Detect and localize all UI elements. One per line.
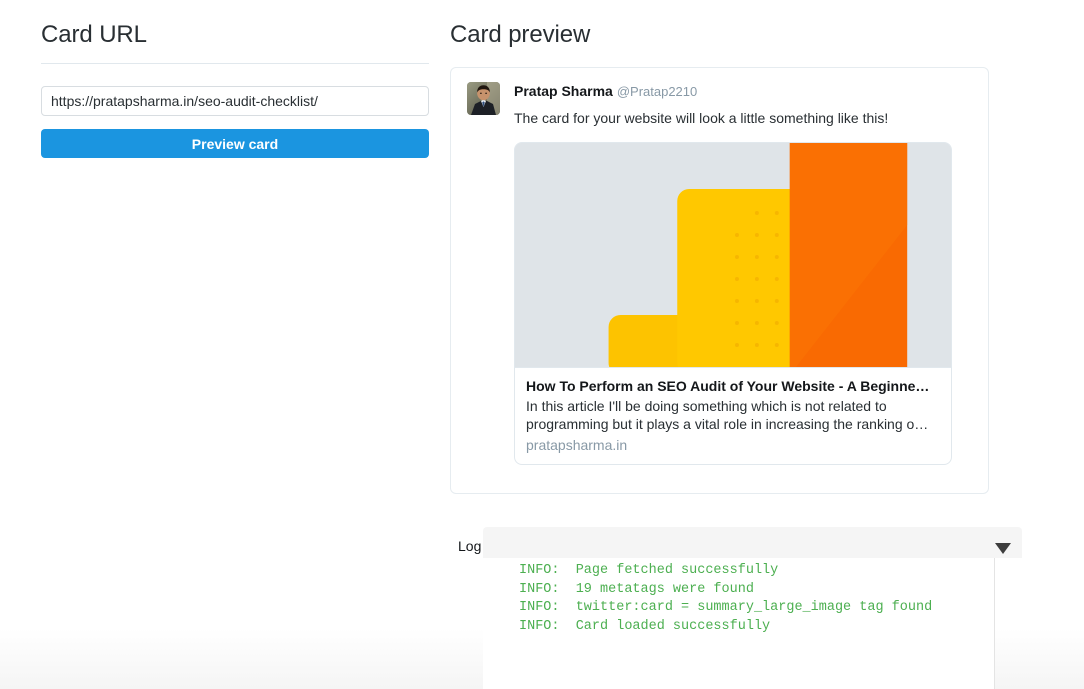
card-url-heading: Card URL (41, 20, 429, 50)
tweet-handle: @Pratap2210 (617, 84, 697, 99)
log-line: INFO: Page fetched successfully (519, 562, 994, 581)
log-header[interactable]: Log (483, 527, 1022, 558)
log-line: INFO: Card loaded successfully (519, 618, 994, 637)
card-title: How To Perform an SEO Audit of Your Webs… (526, 377, 940, 395)
heading-divider (41, 63, 429, 64)
log-line: INFO: twitter:card = summary_large_image… (519, 599, 994, 618)
tweet-text: The card for your website will look a li… (514, 109, 972, 128)
tweet-display-name: Pratap Sharma (514, 83, 613, 99)
log-line: INFO: 19 metatags were found (519, 581, 994, 600)
card-description: In this article I'll be doing something … (526, 397, 940, 433)
tweet-header: Pratap Sharma@Pratap2210 The card for yo… (467, 82, 972, 465)
card-preview-section: Card preview (450, 20, 995, 494)
card-url-input[interactable] (41, 86, 429, 116)
preview-card-button[interactable]: Preview card (41, 129, 429, 158)
card-preview-heading: Card preview (450, 20, 995, 50)
log-output[interactable]: INFO: Page fetched successfully INFO: 19… (483, 558, 995, 689)
preview-container: Pratap Sharma@Pratap2210 The card for yo… (450, 67, 989, 494)
tweet-name-line: Pratap Sharma@Pratap2210 (514, 82, 972, 101)
card-image (515, 143, 951, 367)
tweet-body: Pratap Sharma@Pratap2210 The card for yo… (514, 82, 972, 465)
log-panel: Log INFO: Page fetched successfully INFO… (450, 527, 1022, 558)
card-domain: pratapsharma.in (526, 436, 940, 454)
avatar (467, 82, 500, 115)
log-label: Log (458, 537, 481, 555)
summary-large-image-card[interactable]: How To Perform an SEO Audit of Your Webs… (514, 142, 952, 465)
card-url-section: Card URL Preview card (41, 20, 429, 158)
card-text-block: How To Perform an SEO Audit of Your Webs… (515, 367, 951, 464)
triangle-down-icon[interactable] (995, 543, 1011, 554)
